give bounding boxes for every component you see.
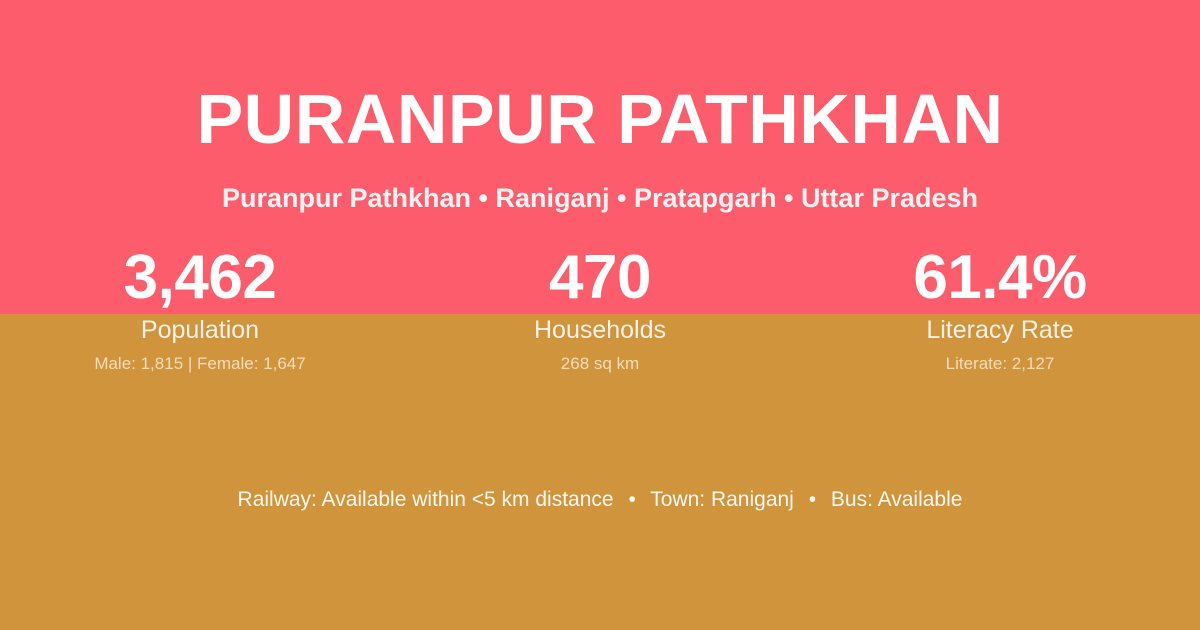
stat-population-label: Population xyxy=(0,315,400,345)
stat-literacy-label: Literacy Rate xyxy=(800,315,1200,345)
stat-households-detail: 268 sq km xyxy=(400,354,800,374)
stat-households-label: Households xyxy=(400,315,800,345)
amenity-town: Town: Raniganj xyxy=(650,488,794,511)
amenity-separator-1: • xyxy=(619,488,644,511)
stats-row: 3,462 Population Male: 1,815 | Female: 1… xyxy=(0,247,1200,374)
amenity-bus: Bus: Available xyxy=(831,488,963,511)
stat-households-value: 470 xyxy=(400,247,800,309)
breadcrumb: Puranpur Pathkhan • Raniganj • Pratapgar… xyxy=(0,182,1200,214)
amenity-separator-2: • xyxy=(800,488,825,511)
stat-population-value: 3,462 xyxy=(0,247,400,309)
card-footer: PIN CODE: 230001 VillageDataBase.com xyxy=(0,558,1200,630)
stat-literacy-detail: Literate: 2,127 xyxy=(800,354,1200,374)
stat-population-detail: Male: 1,815 | Female: 1,647 xyxy=(0,354,400,374)
stat-literacy: 61.4% Literacy Rate Literate: 2,127 xyxy=(800,247,1200,374)
stat-population: 3,462 Population Male: 1,815 | Female: 1… xyxy=(0,247,400,374)
page-title: PURANPUR PATHKHAN xyxy=(0,84,1200,154)
card-content: PURANPUR PATHKHAN Puranpur Pathkhan • Ra… xyxy=(0,0,1200,630)
amenities-line: Railway: Available within <5 km distance… xyxy=(0,486,1200,513)
stat-households: 470 Households 268 sq km xyxy=(400,247,800,374)
village-info-card: PURANPUR PATHKHAN Puranpur Pathkhan • Ra… xyxy=(0,0,1200,630)
stat-literacy-value: 61.4% xyxy=(800,247,1200,309)
amenity-railway: Railway: Available within <5 km distance xyxy=(238,488,614,511)
